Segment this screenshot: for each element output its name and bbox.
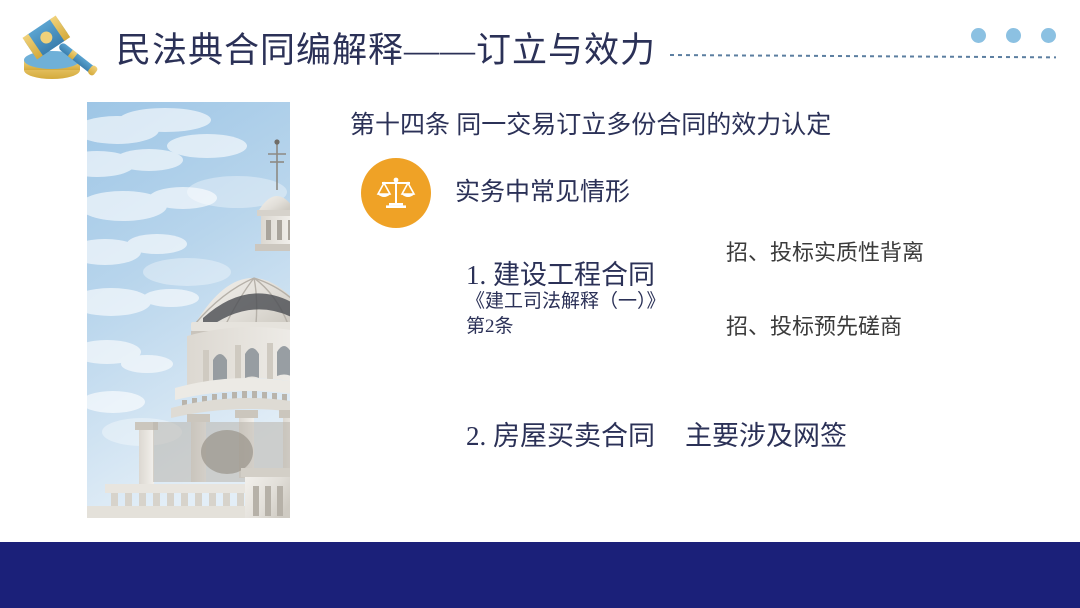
header-dot-1 [971,28,986,43]
item-2-title: 2. 房屋买卖合同 [466,414,655,453]
gavel-icon [12,14,104,86]
practice-label: 实务中常见情形 [455,172,630,208]
scales-badge [361,158,431,228]
item-1-note-2: 招、投标预先磋商 [726,309,902,341]
scales-of-justice-icon [375,172,417,214]
article-heading: 第十四条 同一交易订立多份合同的效力认定 [350,105,831,141]
item-1-citation: 《建工司法解释（一）》 [466,286,666,313]
item-2-note: 主要涉及网签 [685,414,847,453]
courthouse-photo [87,102,290,518]
slide-root: 民法典合同编解释——订立与效力 [0,0,1080,608]
item-2-row: 2. 房屋买卖合同 主要涉及网签 [466,414,847,453]
header-dot-2 [1006,28,1021,43]
header-dashed-rule [670,54,1056,59]
item-1-article: 第2条 [466,311,514,338]
item-1-note-1: 招、投标实质性背离 [726,235,924,267]
header-dot-3 [1041,28,1056,43]
header-dot-group [971,28,1056,43]
page-title: 民法典合同编解释——订立与效力 [116,22,656,73]
footer-bar [0,542,1080,608]
